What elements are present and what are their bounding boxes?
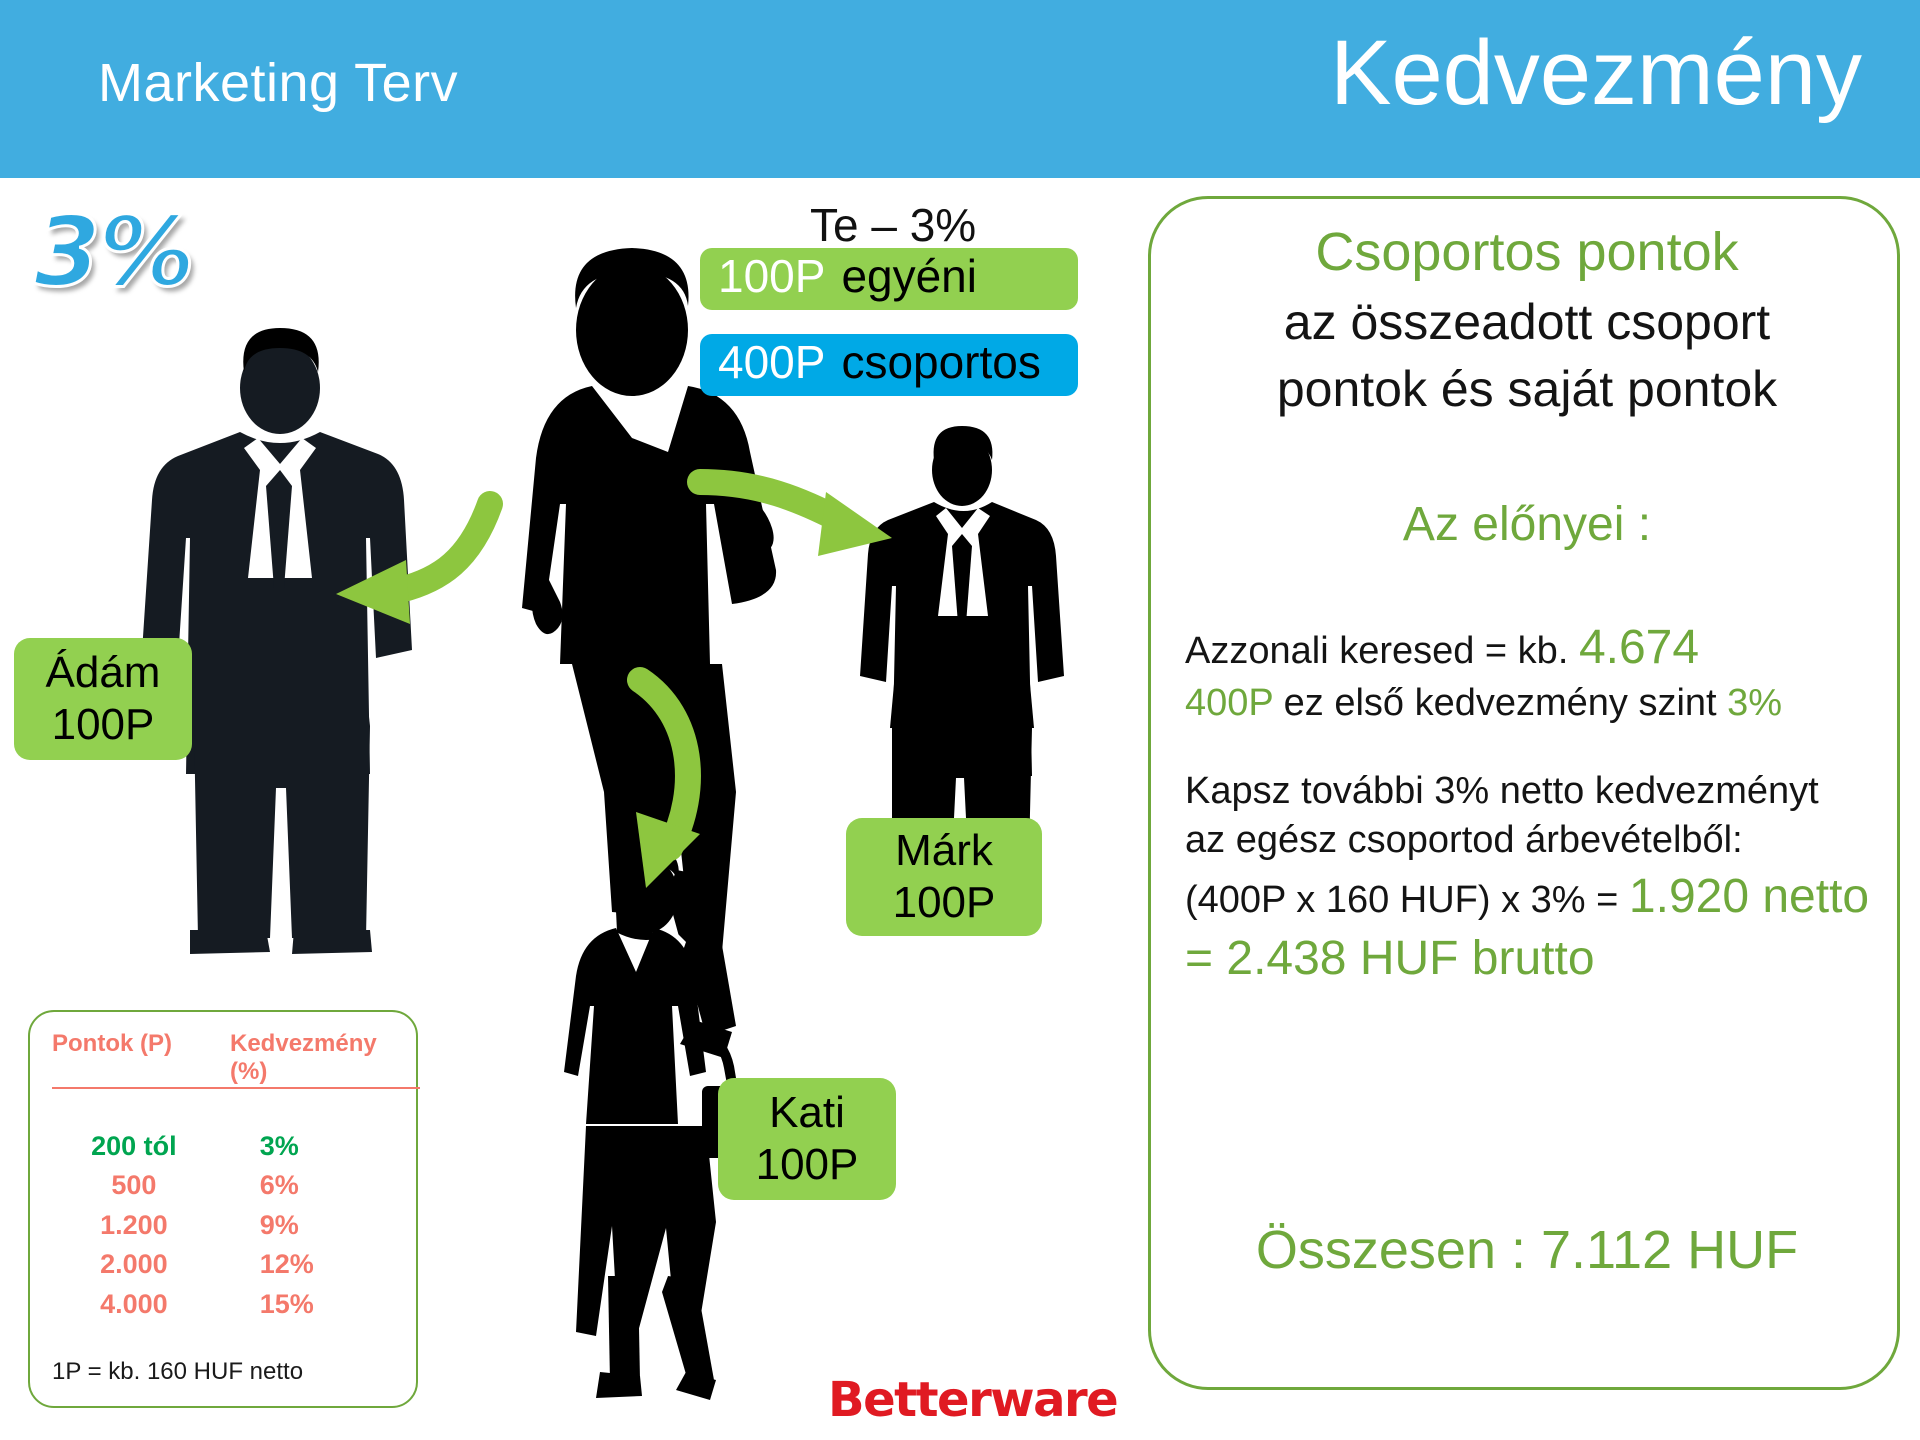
table-row: 1.200 9%: [52, 1206, 394, 1245]
calculation-result: 1.920 netto: [1629, 870, 1869, 923]
points-label-kati: 100P: [756, 1139, 859, 1191]
benefits-subtitle: az összeadott csoport pontok és saját po…: [1151, 289, 1903, 422]
table-row: 500 6%: [52, 1166, 394, 1205]
group-points-value: 400P: [718, 338, 825, 388]
name-label-adam: Ádám: [46, 647, 161, 699]
betterware-logo: Betterware: [828, 1372, 1117, 1428]
discount-level-text: ez első kedvezmény szint: [1284, 682, 1717, 724]
cell-discount: 15%: [216, 1285, 394, 1324]
advantages-heading: Az előnyei :: [1151, 497, 1903, 552]
benefits-title: Csoportos pontok: [1151, 221, 1903, 283]
spacer: [1185, 729, 1885, 767]
calculation-line: (400P x 160 HUF) x 3% = 1.920 netto: [1185, 866, 1885, 928]
cell-points: 500: [52, 1166, 216, 1205]
page-title: Kedvezmény: [1330, 16, 1862, 131]
extra-discount-line1: Kapsz további 3% netto kedvezményt: [1185, 767, 1885, 816]
benefits-body: Azzonali keresed = kb. 4.674 400P ez els…: [1185, 617, 1885, 990]
cell-discount: 9%: [216, 1206, 394, 1245]
points-label-mark: 100P: [893, 877, 996, 929]
cell-discount: 12%: [216, 1245, 394, 1284]
table-header-discount: Kedvezmény (%): [230, 1030, 420, 1086]
te-label: Te – 3%: [810, 198, 976, 252]
discount-level-points: 400P: [1185, 682, 1273, 724]
cell-points: 200 tól: [52, 1127, 216, 1166]
table-header-row: Pontok (P) Kedvezmény (%): [52, 1030, 420, 1089]
total-line: Összesen : 7.112 HUF: [1151, 1219, 1903, 1281]
personal-points-label: egyéni: [841, 252, 977, 302]
calculation-formula: (400P x 160 HUF) x 3%: [1185, 879, 1586, 921]
name-box-mark: Márk 100P: [846, 818, 1042, 936]
table-header-points: Pontok (P): [52, 1030, 230, 1086]
table-row: 200 tól 3%: [52, 1127, 394, 1166]
gross-result-line: = 2.438 HUF brutto: [1185, 928, 1885, 990]
name-label-kati: Kati: [769, 1087, 845, 1139]
slide-root: Marketing Terv Kedvezmény 3%: [0, 0, 1920, 1440]
cell-discount: 6%: [216, 1166, 394, 1205]
points-label-adam: 100P: [52, 699, 155, 751]
table-body: 200 tól 3% 500 6% 1.200 9% 2.000 12% 4.0…: [52, 1127, 394, 1324]
benefits-subtitle-line2: pontok és saját pontok: [1151, 356, 1903, 423]
cell-points: 4.000: [52, 1285, 216, 1324]
three-percent-badge-icon: 3%: [34, 196, 193, 308]
group-points-label: csoportos: [841, 338, 1040, 388]
benefits-panel: Csoportos pontok az összeadott csoport p…: [1148, 196, 1900, 1390]
table-row: 2.000 12%: [52, 1245, 394, 1284]
arrow-to-adam: [336, 504, 490, 624]
table-footnote: 1P = kb. 160 HUF netto: [52, 1358, 394, 1386]
benefits-subtitle-line1: az összeadott csoport: [1151, 289, 1903, 356]
extra-discount-line2: az egész csoportod árbevételből:: [1185, 816, 1885, 865]
badge-personal-points: 100P egyéni: [700, 248, 1078, 310]
cell-points: 2.000: [52, 1245, 216, 1284]
name-box-adam: Ádám 100P: [14, 638, 192, 760]
name-box-kati: Kati 100P: [718, 1078, 896, 1200]
discount-level-pct: 3%: [1727, 682, 1782, 724]
points-discount-table: Pontok (P) Kedvezmény (%) 200 tól 3% 500…: [28, 1010, 418, 1408]
cell-points: 1.200: [52, 1206, 216, 1245]
name-label-mark: Márk: [895, 825, 993, 877]
arrow-to-mark: [700, 482, 892, 556]
header-subtitle: Marketing Terv: [98, 52, 458, 114]
earnings-prefix: Azzonali keresed = kb.: [1185, 630, 1568, 672]
earnings-line: Azzonali keresed = kb. 4.674: [1185, 617, 1885, 679]
cell-discount: 3%: [216, 1127, 394, 1166]
personal-points-value: 100P: [718, 252, 825, 302]
discount-level-line: 400P ez első kedvezmény szint 3%: [1185, 679, 1885, 728]
badge-group-points: 400P csoportos: [700, 334, 1078, 396]
calculation-equals: =: [1596, 879, 1618, 921]
earnings-amount: 4.674: [1579, 621, 1699, 674]
table-row: 4.000 15%: [52, 1285, 394, 1324]
arrow-to-kati: [636, 680, 700, 888]
